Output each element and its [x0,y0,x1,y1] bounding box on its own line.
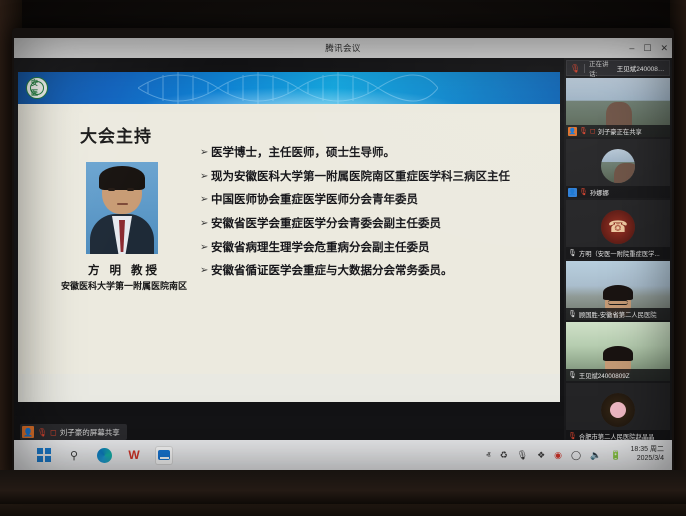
speaker-portrait [86,162,158,254]
slide-body: 大会主持 方 明 教授 [18,104,560,374]
speaker-name: 方 明 教授 [66,262,182,278]
chevron-up-icon[interactable]: ⱏ [486,450,490,461]
participant-rail[interactable]: 🎙 正在讲话: 王见斌24000809Z... 👤 🎙 ◻ 刘子豪正在共享 [564,58,672,442]
mic-off-icon: 🎙 [579,188,588,196]
participant-tile[interactable]: ☎ 🎙 方明（安医一附院重症医学... [566,200,670,259]
dock-icon[interactable]: ❖ [537,450,545,461]
participant-tile[interactable]: 🎙 合肥市第二人民医院赵晶晶 [566,383,670,442]
speaker-affiliation: 安徽医科大学第一附属医院南区 [46,279,202,292]
laptop-base [0,470,686,504]
avatar [601,393,635,427]
participant-name: 方明（安医一附院重症医学... [579,249,660,258]
close-button[interactable]: ✕ [660,44,668,53]
participant-name: 孙娜娜 [590,188,609,197]
participant-hair [603,285,633,300]
mic-off-icon: 🎙 [579,127,588,135]
clock[interactable]: 18:35 周二 2025/3/4 [631,446,666,464]
slide-bullet-list: ➢ 医学博士，主任医师，硕士生导师。 ➢ 现为安徽医科大学第一附属医院南区重症医… [200,146,550,288]
tencent-meeting-window: 腾讯会议 – ☐ ✕ [14,38,672,440]
mic-on-icon: 🎙 [568,249,577,257]
hospital-logo-text: 安医 [30,81,44,95]
portrait-eye-right [127,188,134,191]
maximize-button[interactable]: ☐ [643,44,651,53]
tencent-meeting-icon[interactable] [156,447,172,463]
list-item: ➢ 安徽省病理生理学会危重病分会副主任委员 [200,241,550,254]
windows-taskbar: ⚲ W ⱏ ♻ 🎙 ❖ ◉ ◯ 🔈 🔋 18:35 周二 2025/3/4 [14,440,672,470]
clock-time: 18:35 周二 [631,446,664,455]
mic-on-icon: 🎙 [568,310,577,318]
window-controls: – ☐ ✕ [629,38,668,58]
bullet-marker-icon: ➢ [200,218,211,229]
wifi-icon[interactable]: ◯ [571,450,581,461]
bullet-text: 中国医师协会重症医学医师分会青年委员 [211,193,418,206]
portrait-eye-left [108,188,115,191]
participant-tile[interactable]: 🎙 王见斌24000809Z [566,322,670,381]
window-titlebar: 腾讯会议 – ☐ ✕ [14,38,672,58]
window-title: 腾讯会议 [325,42,361,54]
bullet-text: 现为安徽医科大学第一附属医院南区重症医学科三病区主任 [211,170,510,183]
participant-tile[interactable]: 👤 🎙 ◻ 刘子豪正在共享 [566,78,670,137]
bullet-text: 医学博士，主任医师，硕士生导师。 [211,146,395,159]
participant-hair [603,346,633,361]
glasses-icon [608,300,628,305]
participant-label: 🎙 方明（安医一附院重症医学... [566,247,670,259]
bullet-marker-icon: ➢ [200,242,211,253]
participant-name: 刘子豪正在共享 [598,127,642,136]
phone-icon: ☎ [601,210,635,244]
start-button[interactable] [36,447,52,463]
participant-label: 🎙 王见斌24000809Z [566,369,670,381]
camera-off-icon: ◻ [590,127,596,135]
participant-label: 👤 🎙 孙娜娜 [566,186,670,198]
slide-title: 大会主持 [80,122,152,147]
search-icon[interactable]: ⚲ [66,447,82,463]
speaking-name: 王见斌24000809Z... [617,63,666,73]
bullet-marker-icon: ➢ [200,265,211,276]
avatar [601,149,635,183]
share-top-letterbox [14,58,564,72]
laptop-screen: 腾讯会议 – ☐ ✕ [14,38,672,470]
bullet-marker-icon: ➢ [200,147,211,158]
meeting-body: 安医 大会主持 [14,58,672,442]
mic-on-icon: 🎙 [568,371,577,379]
divider [584,64,585,73]
avatar: 👤 [568,188,577,197]
list-item: ➢ 医学博士，主任医师，硕士生导师。 [200,146,550,159]
volume-icon[interactable]: 🔈 [590,450,601,461]
share-status-bar: 👤 🎙 ◻ 刘子豪的屏幕共享 [20,424,127,440]
participant-tile[interactable]: 👤 🎙 孙娜娜 [566,139,670,198]
speaking-label: 正在讲话: [589,58,613,78]
taskbar-apps: ⚲ W [14,447,172,463]
app-tray-icon[interactable]: ◉ [554,450,562,461]
avatar: ☎ [601,210,635,244]
microphone-icon: 🎙 [570,64,580,73]
list-item: ➢ 安徽省医学会重症医学分会青委会副主任委员 [200,217,550,230]
list-item: ➢ 安徽省循证医学会重症与大数据分会常务委员。 [200,264,550,277]
dna-graphic [138,72,438,104]
system-tray: ⱏ ♻ 🎙 ❖ ◉ ◯ 🔈 🔋 18:35 周二 2025/3/4 [486,446,672,464]
bullet-text: 安徽省病理生理学会危重病分会副主任委员 [211,241,430,254]
wps-icon[interactable]: W [126,447,142,463]
presentation-slide: 安医 大会主持 [18,72,560,402]
edge-icon[interactable] [96,447,112,463]
clock-date: 2025/3/4 [637,455,664,464]
list-item: ➢ 中国医师协会重症医学医师分会青年委员 [200,193,550,206]
cartoon-avatar-icon [601,393,635,427]
bullet-marker-icon: ➢ [200,194,211,205]
portrait-mouth [117,203,128,205]
participant-label: 👤 🎙 ◻ 刘子豪正在共享 [566,125,670,137]
bullet-marker-icon: ➢ [200,171,211,182]
slide-banner: 安医 [18,72,560,104]
camera-off-icon: ◻ [50,428,57,437]
minimize-button[interactable]: – [629,44,634,53]
mic-off-icon: 🎙 [37,428,47,437]
avatar: 👤 [568,127,577,136]
participant-video [601,149,635,183]
laptop-photo: 腾讯会议 – ☐ ✕ [0,0,686,516]
shared-screen-area: 安医 大会主持 [14,58,564,442]
active-speaker-banner: 🎙 正在讲话: 王见斌24000809Z... [566,60,670,76]
share-bottom-letterbox [14,402,564,416]
avatar: 👤 [22,426,34,438]
list-item: ➢ 现为安徽医科大学第一附属医院南区重症医学科三病区主任 [200,170,550,183]
microphone-icon[interactable]: 🎙 [517,450,528,461]
network-icon[interactable]: ♻ [500,450,508,461]
participant-label: 🎙 顾国胜-安徽省第二人民医院 [566,308,670,320]
participant-name: 王见斌24000809Z [579,371,630,380]
bullet-text: 安徽省医学会重症医学分会青委会副主任委员 [211,217,441,230]
participant-tile[interactable]: 🎙 顾国胜-安徽省第二人民医院 [566,261,670,320]
hospital-logo: 安医 [26,77,48,99]
participant-name: 顾国胜-安徽省第二人民医院 [579,310,657,319]
mic-off-icon: 🎙 [568,432,577,440]
bullet-text: 安徽省循证医学会重症与大数据分会常务委员。 [211,264,453,277]
battery-icon[interactable]: 🔋 [610,450,621,461]
share-status-text: 刘子豪的屏幕共享 [60,427,120,438]
portrait-hair [99,166,145,190]
